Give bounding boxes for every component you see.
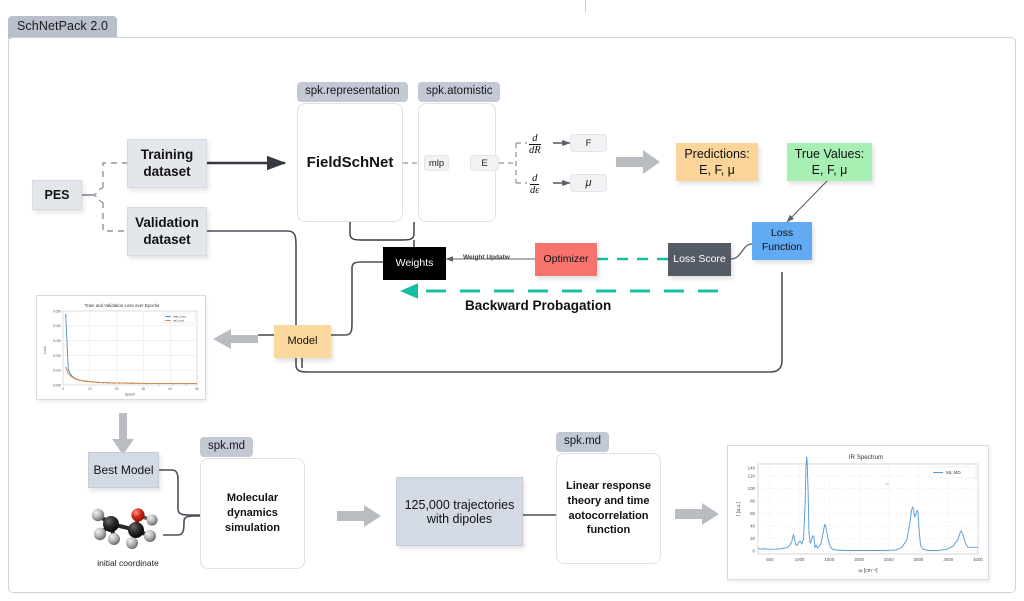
svg-text:0.040: 0.040 bbox=[53, 324, 61, 328]
svg-text:0.030: 0.030 bbox=[53, 339, 61, 343]
training-dataset-line1: Training bbox=[141, 147, 194, 164]
svg-text:0.050: 0.050 bbox=[53, 309, 61, 313]
true-values-line1: True Values: bbox=[795, 146, 864, 162]
svg-text:IR Spectrum: IR Spectrum bbox=[849, 454, 883, 461]
molecule-initial-coordinate bbox=[78, 498, 178, 552]
figure-loss-curve[interactable]: Train and Validation Loss over Epochs bbox=[36, 295, 206, 400]
svg-text:3500: 3500 bbox=[943, 557, 953, 562]
window-tab-schnetpack[interactable]: SchNetPack 2.0 bbox=[8, 16, 117, 39]
node-weights[interactable]: Weights bbox=[383, 247, 446, 280]
arrow-to-ir-spectrum bbox=[675, 503, 719, 525]
node-loss-function[interactable]: Loss Function bbox=[752, 222, 812, 260]
svg-text:40: 40 bbox=[168, 387, 172, 391]
module-fieldschnet[interactable]: FieldSchNet bbox=[297, 103, 403, 222]
svg-text:0.000: 0.000 bbox=[53, 383, 61, 387]
figure-ir-spectrum[interactable]: IR Spectrum bbox=[727, 445, 989, 580]
derivative-force: d dR bbox=[529, 133, 541, 156]
svg-text:1000: 1000 bbox=[795, 557, 805, 562]
training-dataset-line2: dataset bbox=[143, 164, 190, 181]
node-pes[interactable]: PES bbox=[32, 180, 82, 210]
true-values-line2: E, F, μ bbox=[812, 162, 848, 178]
svg-text:500: 500 bbox=[766, 557, 774, 562]
svg-text:I [a.u.]: I [a.u.] bbox=[736, 501, 742, 516]
svg-text:20: 20 bbox=[750, 536, 755, 541]
node-forces[interactable]: F bbox=[570, 134, 607, 152]
node-predictions[interactable]: Predictions: E, F, μ bbox=[676, 143, 758, 181]
svg-text:1500: 1500 bbox=[825, 557, 835, 562]
section-label-spk-md-1: spk.md bbox=[200, 437, 253, 457]
module-md-simulation[interactable]: Molecular dynamics simulation bbox=[200, 458, 305, 569]
svg-text:0.020: 0.020 bbox=[53, 354, 61, 358]
node-trajectories[interactable]: 125,000 trajectories with dipoles bbox=[396, 477, 523, 546]
md-simulation-line1: Molecular bbox=[225, 491, 280, 506]
svg-text:2500: 2500 bbox=[884, 557, 894, 562]
label-initial-coordinate: initial coordinate bbox=[78, 558, 178, 568]
section-label-spk-atomistic: spk.atomistic bbox=[418, 82, 500, 102]
derivative-force-numerator: d bbox=[532, 133, 537, 144]
svg-text:50: 50 bbox=[195, 387, 199, 391]
module-linear-response[interactable]: Linear response theory and time aotocorr… bbox=[556, 453, 661, 564]
svg-text:0: 0 bbox=[62, 387, 64, 391]
loss-function-line1: Loss bbox=[771, 227, 793, 241]
svg-text:val_loss: val_loss bbox=[173, 319, 184, 323]
trajectories-line2: with dipoles bbox=[427, 512, 492, 526]
svg-text:Loss: Loss bbox=[43, 346, 47, 353]
predictions-line1: Predictions: bbox=[684, 146, 749, 162]
svg-text:10: 10 bbox=[88, 387, 92, 391]
svg-text:Train and Validation Loss over: Train and Validation Loss over Epochs bbox=[85, 303, 160, 308]
label-backward-propagation: Backward Probagation bbox=[465, 298, 611, 313]
node-loss-score[interactable]: Loss Score bbox=[668, 243, 731, 276]
md-simulation-line2: dynamics bbox=[225, 506, 280, 521]
label-weight-update: Weight Updatw bbox=[463, 254, 510, 261]
svg-text:ML MD: ML MD bbox=[946, 470, 961, 475]
trajectories-line1: 125,000 trajectories bbox=[405, 498, 515, 512]
fieldschnet-title: FieldSchNet bbox=[307, 154, 394, 171]
derivative-dipole-denominator: dε bbox=[530, 184, 539, 196]
linear-response-line1: Linear response bbox=[566, 479, 651, 494]
svg-text:4000: 4000 bbox=[973, 557, 983, 562]
node-dipole[interactable]: μ bbox=[570, 174, 607, 192]
derivative-force-denominator: dR bbox=[529, 144, 541, 156]
svg-text:140: 140 bbox=[748, 466, 756, 471]
validation-dataset-line2: dataset bbox=[143, 232, 190, 249]
arrow-to-best-model bbox=[112, 413, 134, 455]
validation-dataset-line1: Validation bbox=[135, 215, 199, 232]
svg-text:30: 30 bbox=[142, 387, 146, 391]
derivative-dipole: d dε bbox=[530, 173, 539, 196]
svg-text:40: 40 bbox=[750, 524, 755, 529]
node-energy[interactable]: E bbox=[470, 155, 499, 171]
svg-text:ω [cm⁻¹]: ω [cm⁻¹] bbox=[858, 568, 878, 574]
svg-text:100: 100 bbox=[748, 486, 756, 491]
linear-response-line3: aotocorrelation bbox=[566, 509, 651, 524]
md-simulation-line3: simulation bbox=[225, 521, 280, 536]
node-mlp[interactable]: mlp bbox=[424, 155, 449, 171]
arrow-md-to-trajectories bbox=[337, 505, 381, 527]
derivative-dipole-numerator: d bbox=[532, 173, 537, 184]
linear-response-line2: theory and time bbox=[566, 494, 651, 509]
section-label-spk-md-2: spk.md bbox=[556, 432, 609, 452]
diagram-canvas: SchNetPack 2.0 bbox=[0, 0, 1024, 601]
svg-text:3000: 3000 bbox=[914, 557, 924, 562]
predictions-line2: E, F, μ bbox=[699, 162, 735, 178]
svg-text:0.010: 0.010 bbox=[53, 369, 61, 373]
node-optimizer[interactable]: Optimizer bbox=[535, 243, 597, 276]
top-divider-tick bbox=[585, 0, 586, 12]
section-label-spk-representation: spk.representation bbox=[297, 82, 408, 102]
svg-text:60: 60 bbox=[750, 511, 755, 516]
node-model[interactable]: Model bbox=[274, 325, 331, 358]
svg-text:20: 20 bbox=[115, 387, 119, 391]
node-best-model[interactable]: Best Model bbox=[88, 452, 159, 488]
node-true-values[interactable]: True Values: E, F, μ bbox=[787, 143, 872, 181]
loss-function-line2: Function bbox=[762, 241, 802, 255]
arrow-to-predictions bbox=[616, 150, 660, 174]
arrow-model-to-loss-chart bbox=[213, 329, 258, 349]
node-training-dataset[interactable]: Training dataset bbox=[127, 139, 207, 188]
linear-response-line4: function bbox=[566, 523, 651, 538]
svg-text:120: 120 bbox=[748, 474, 756, 479]
svg-text:2000: 2000 bbox=[854, 557, 864, 562]
node-validation-dataset[interactable]: Validation dataset bbox=[127, 207, 207, 256]
svg-text:Epoch: Epoch bbox=[125, 393, 135, 397]
svg-text:80: 80 bbox=[750, 499, 755, 504]
